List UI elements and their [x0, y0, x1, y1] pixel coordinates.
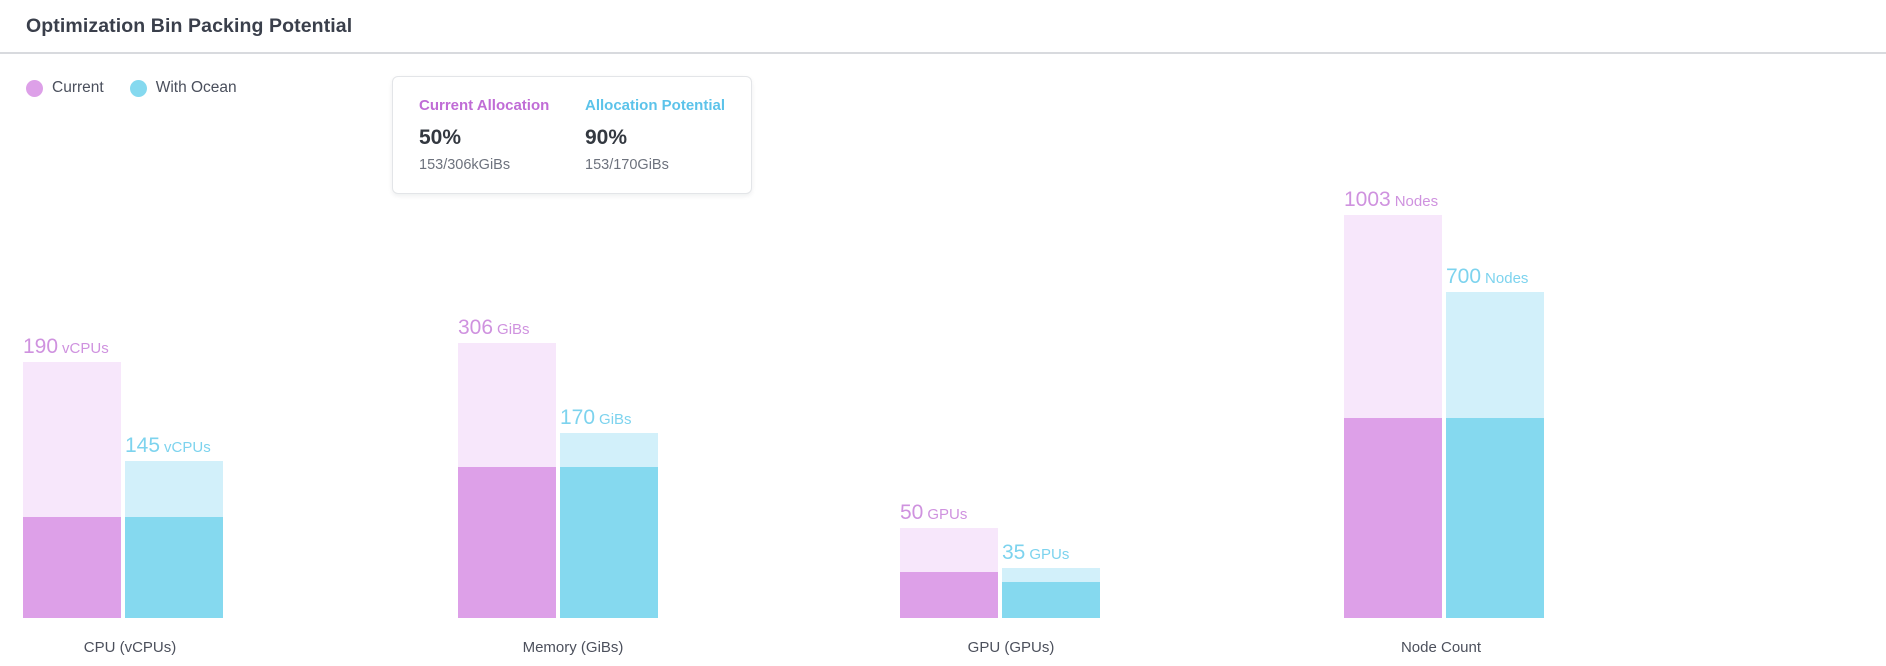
bar-value-unit: GPUs [927, 506, 967, 523]
bar-segment-used [125, 517, 223, 618]
bar-segment-unused [1446, 292, 1544, 418]
bar-segment-unused [900, 528, 998, 572]
bar-with-ocean[interactable]: 170GiBs [560, 433, 658, 618]
bar-segment-unused [458, 343, 556, 467]
bar-value-number: 700 [1446, 265, 1481, 288]
bar-value-number: 35 [1002, 541, 1025, 564]
bar-value-number: 50 [900, 501, 923, 524]
bar-value-unit: Nodes [1395, 193, 1438, 210]
chart-plot-area: 190vCPUs145vCPUs306GiBs170GiBs50GPUs35GP… [0, 54, 1886, 618]
bar-segment-used [458, 467, 556, 618]
bar-value-label: 306GiBs [458, 317, 530, 338]
bar-group: 50GPUs35GPUs [900, 54, 1115, 618]
bar-current[interactable]: 50GPUs [900, 528, 998, 618]
bar-value-label: 700Nodes [1446, 266, 1528, 287]
bar-value-number: 1003 [1344, 188, 1391, 211]
bar-with-ocean[interactable]: 145vCPUs [125, 461, 223, 618]
bar-group: 190vCPUs145vCPUs [23, 54, 238, 618]
bar-segment-used [23, 517, 121, 618]
bar-value-label: 145vCPUs [125, 435, 211, 456]
bar-value-unit: GiBs [599, 411, 632, 428]
bar-with-ocean[interactable]: 35GPUs [1002, 568, 1100, 618]
bar-value-number: 145 [125, 434, 160, 457]
bar-segment-unused [125, 461, 223, 517]
page-title: Optimization Bin Packing Potential [26, 15, 352, 38]
bar-value-label: 1003Nodes [1344, 189, 1438, 210]
bar-value-number: 306 [458, 316, 493, 339]
bar-current[interactable]: 1003Nodes [1344, 215, 1442, 618]
bar-segment-used [900, 572, 998, 618]
bar-value-label: 190vCPUs [23, 336, 109, 357]
bar-group: 1003Nodes700Nodes [1344, 54, 1559, 618]
category-label: Memory (GiBs) [473, 639, 673, 656]
bar-segment-unused [1344, 215, 1442, 418]
bar-segment-unused [23, 362, 121, 517]
bar-value-unit: GiBs [497, 321, 530, 338]
bar-segment-used [1344, 418, 1442, 618]
category-label: GPU (GPUs) [911, 639, 1111, 656]
bar-value-number: 170 [560, 406, 595, 429]
bar-segment-used [1002, 582, 1100, 618]
category-label: CPU (vCPUs) [30, 639, 230, 656]
bar-value-label: 35GPUs [1002, 542, 1069, 563]
bar-value-unit: Nodes [1485, 270, 1528, 287]
bar-segment-used [560, 467, 658, 618]
bar-value-unit: vCPUs [62, 340, 109, 357]
bar-segment-used [1446, 418, 1544, 618]
bar-segment-unused [1002, 568, 1100, 582]
bar-segment-unused [560, 433, 658, 467]
bar-with-ocean[interactable]: 700Nodes [1446, 292, 1544, 618]
category-label: Node Count [1341, 639, 1541, 656]
bar-value-label: 50GPUs [900, 502, 967, 523]
bar-group: 306GiBs170GiBs [458, 54, 673, 618]
bar-value-number: 190 [23, 335, 58, 358]
panel-header: Optimization Bin Packing Potential [0, 0, 1886, 54]
bar-chart: 190vCPUs145vCPUs306GiBs170GiBs50GPUs35GP… [0, 54, 1886, 666]
bar-value-unit: vCPUs [164, 439, 211, 456]
bar-value-unit: GPUs [1029, 546, 1069, 563]
bar-current[interactable]: 306GiBs [458, 343, 556, 618]
bar-value-label: 170GiBs [560, 407, 632, 428]
bar-current[interactable]: 190vCPUs [23, 362, 121, 618]
